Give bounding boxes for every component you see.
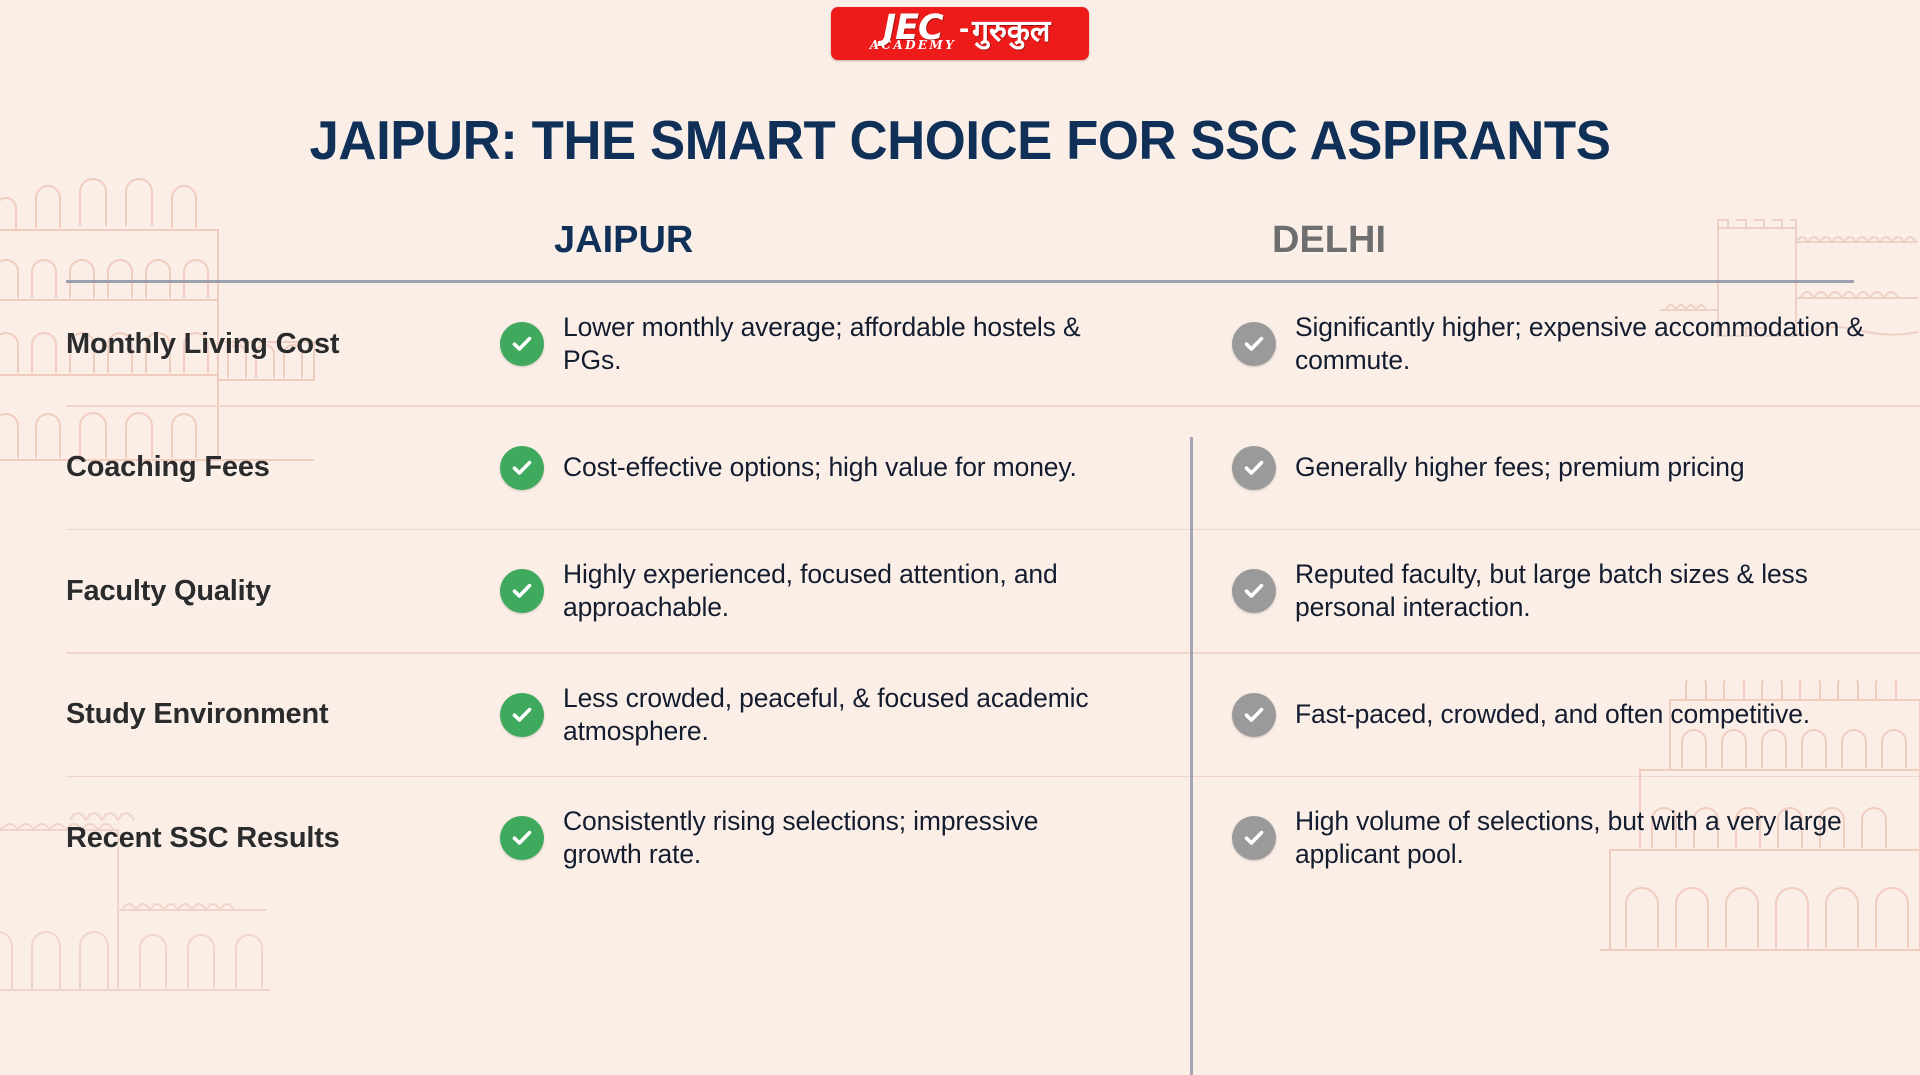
- table-row: Study Environment Less crowded, peaceful…: [0, 654, 1920, 776]
- check-circle-icon: [1232, 322, 1276, 366]
- row-divider-line: [66, 652, 1920, 654]
- header-criteria-cell: [0, 200, 492, 280]
- check-circle-icon: [500, 446, 544, 490]
- comparison-table: JAIPUR DELHI Monthly Living Cost Lower m…: [0, 200, 1920, 899]
- check-circle-icon: [500, 569, 544, 613]
- page-title: JAIPUR: THE SMART CHOICE FOR SSC ASPIRAN…: [38, 108, 1881, 172]
- row-label: Faculty Quality: [66, 575, 271, 608]
- cell-text: High volume of selections, but with a ve…: [1295, 805, 1915, 871]
- header-jaipur-cell: JAIPUR: [492, 200, 1192, 280]
- jec-gurukul-logo[interactable]: JEC ACADEMY - गुरुकुल: [831, 7, 1089, 60]
- column-header-delhi: DELHI: [1272, 219, 1386, 262]
- cell-text: Generally higher fees; premium pricing: [1295, 451, 1744, 484]
- row-jaipur-cell: Lower monthly average; affordable hostel…: [492, 283, 1192, 405]
- logo-dash: -: [958, 12, 970, 54]
- cell-text: Lower monthly average; affordable hostel…: [563, 311, 1123, 377]
- row-label: Coaching Fees: [66, 451, 270, 484]
- check-circle-icon: [500, 693, 544, 737]
- table-row: Faculty Quality Highly experienced, focu…: [0, 530, 1920, 652]
- row-jaipur-cell: Less crowded, peaceful, & focused academ…: [492, 654, 1192, 776]
- cell-text: Cost-effective options; high value for m…: [563, 451, 1077, 484]
- cell-text: Significantly higher; expensive accommod…: [1295, 311, 1915, 377]
- logo-academy-text: ACADEMY: [870, 41, 956, 51]
- logo-gurukul-text: गुरुकुल: [972, 9, 1050, 56]
- header-delhi-cell: DELHI: [1192, 200, 1920, 280]
- table-header-row: JAIPUR DELHI: [0, 200, 1920, 280]
- row-divider-line: [66, 405, 1920, 407]
- brand-logo-area: JEC ACADEMY - गुरुकुल: [0, 0, 1920, 60]
- check-circle-icon: [1232, 693, 1276, 737]
- logo-jec-block: JEC ACADEMY: [870, 14, 956, 51]
- row-jaipur-cell: Highly experienced, focused attention, a…: [492, 530, 1192, 652]
- row-criteria-cell: Study Environment: [0, 654, 492, 776]
- row-criteria-cell: Monthly Living Cost: [0, 283, 492, 405]
- table-row: Monthly Living Cost Lower monthly averag…: [0, 283, 1920, 405]
- row-criteria-cell: Recent SSC Results: [0, 777, 492, 899]
- cell-text: Highly experienced, focused attention, a…: [563, 558, 1123, 624]
- check-circle-icon: [1232, 569, 1276, 613]
- column-header-jaipur: JAIPUR: [554, 219, 693, 262]
- cell-text: Consistently rising selections; impressi…: [563, 805, 1123, 871]
- row-divider-line: [66, 776, 1920, 778]
- row-label: Study Environment: [66, 698, 328, 731]
- cell-text: Less crowded, peaceful, & focused academ…: [563, 682, 1123, 748]
- cell-text: Reputed faculty, but large batch sizes &…: [1295, 558, 1915, 624]
- row-label: Monthly Living Cost: [66, 328, 339, 361]
- row-jaipur-cell: Cost-effective options; high value for m…: [492, 407, 1192, 529]
- header-divider-line: [66, 280, 1854, 283]
- row-delhi-cell: High volume of selections, but with a ve…: [1192, 777, 1920, 899]
- row-label: Recent SSC Results: [66, 822, 340, 855]
- row-divider-line: [66, 529, 1920, 531]
- row-delhi-cell: Reputed faculty, but large batch sizes &…: [1192, 530, 1920, 652]
- row-jaipur-cell: Consistently rising selections; impressi…: [492, 777, 1192, 899]
- cell-text: Fast-paced, crowded, and often competiti…: [1295, 698, 1810, 731]
- table-row: Coaching Fees Cost-effective options; hi…: [0, 407, 1920, 529]
- row-delhi-cell: Fast-paced, crowded, and often competiti…: [1192, 654, 1920, 776]
- table-row: Recent SSC Results Consistently rising s…: [0, 777, 1920, 899]
- column-divider: [1190, 437, 1193, 1075]
- check-circle-icon: [500, 322, 544, 366]
- check-circle-icon: [500, 816, 544, 860]
- row-delhi-cell: Significantly higher; expensive accommod…: [1192, 283, 1920, 405]
- row-criteria-cell: Faculty Quality: [0, 530, 492, 652]
- row-delhi-cell: Generally higher fees; premium pricing: [1192, 407, 1920, 529]
- row-criteria-cell: Coaching Fees: [0, 407, 492, 529]
- check-circle-icon: [1232, 446, 1276, 490]
- check-circle-icon: [1232, 816, 1276, 860]
